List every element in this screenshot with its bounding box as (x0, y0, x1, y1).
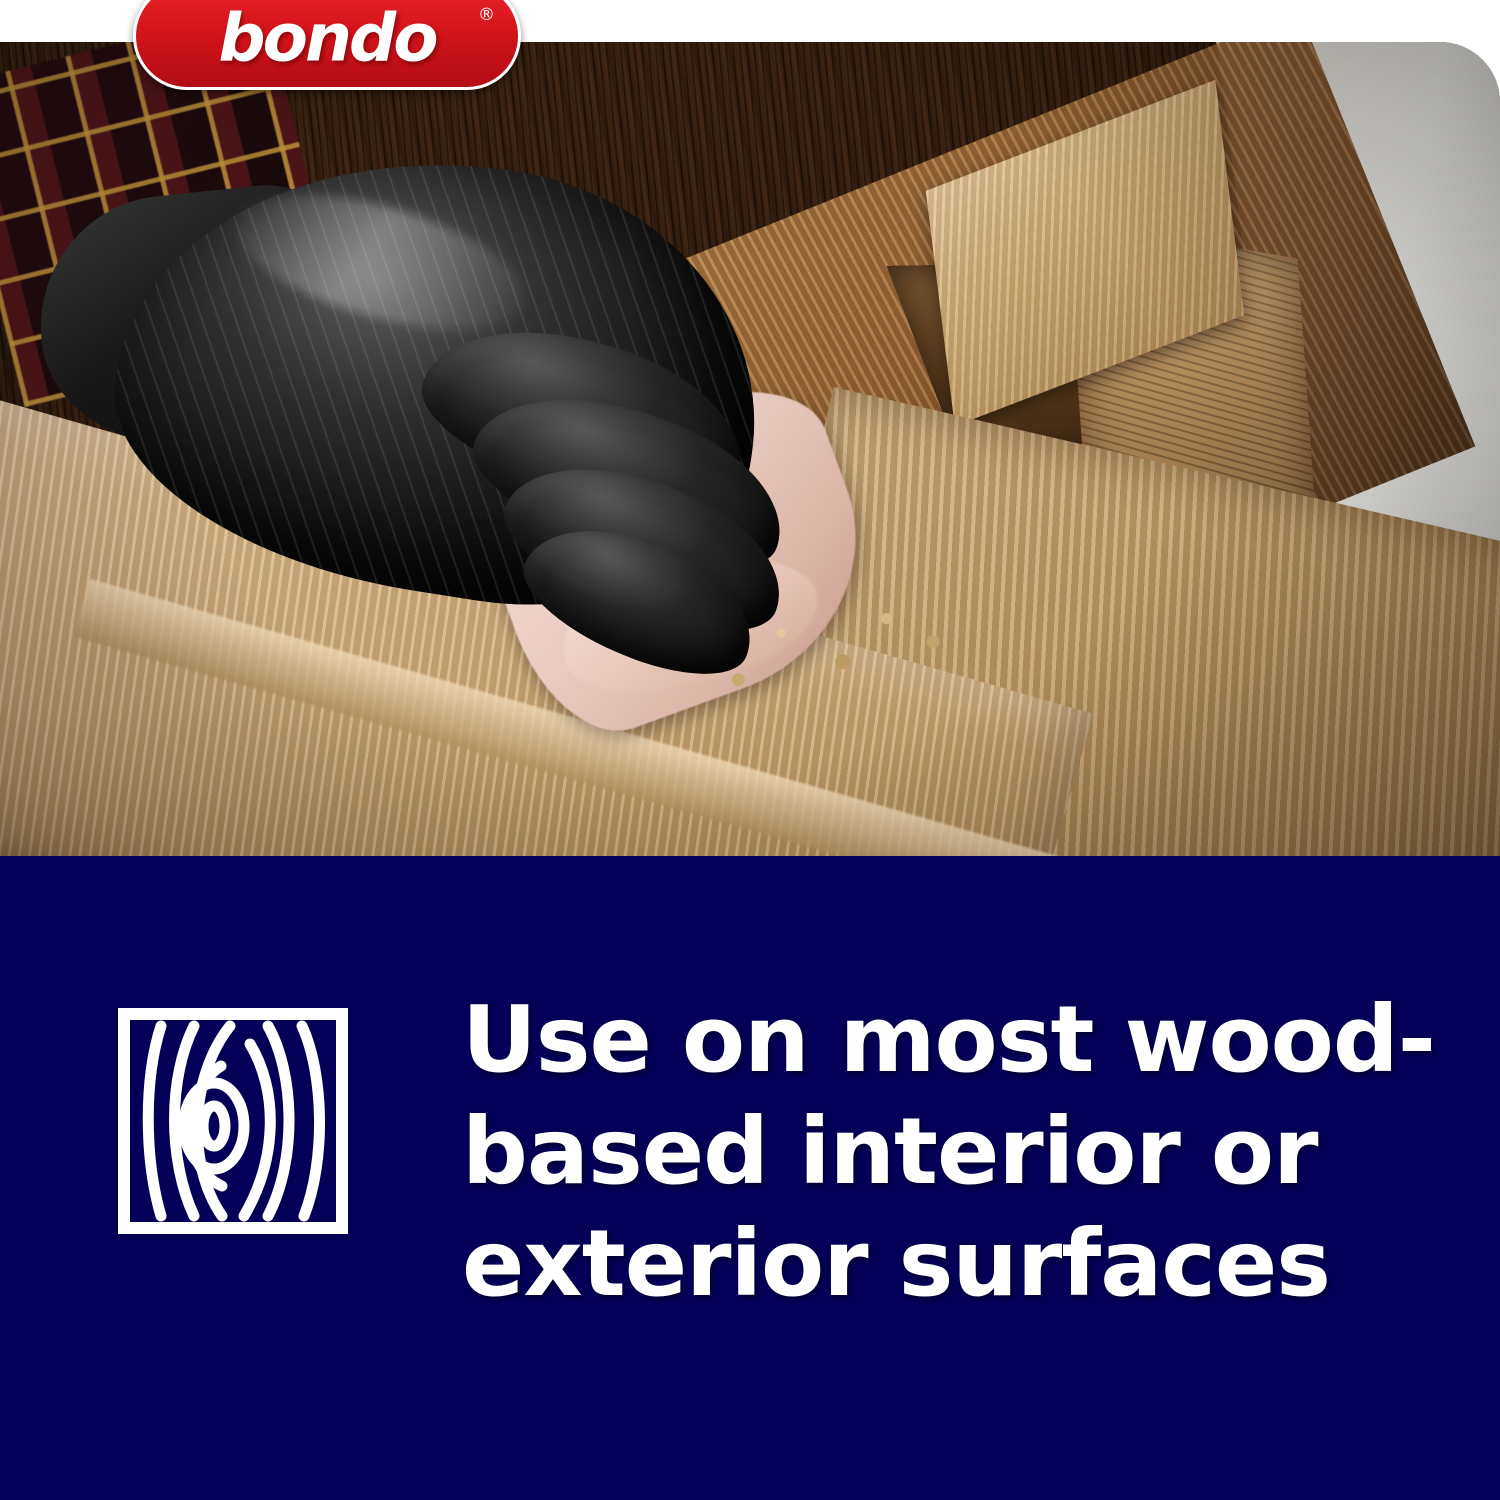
headline-line-1: Use on most wood- (462, 984, 1422, 1096)
registered-trademark-icon: ® (478, 7, 495, 24)
wood-grain-icon (118, 1008, 348, 1234)
headline-line-3: exterior surfaces (462, 1208, 1422, 1320)
product-photo (0, 42, 1500, 856)
bondo-logo-wordmark: bondo (136, 6, 518, 72)
bondo-logo: bondo ® (133, 0, 521, 90)
feature-panel: Use on most wood- based interior or exte… (0, 856, 1500, 1500)
feature-headline: Use on most wood- based interior or exte… (462, 984, 1422, 1321)
headline-line-2: based interior or (462, 1096, 1422, 1208)
product-feature-banner: bondo ® Use on most woo (0, 0, 1500, 1500)
